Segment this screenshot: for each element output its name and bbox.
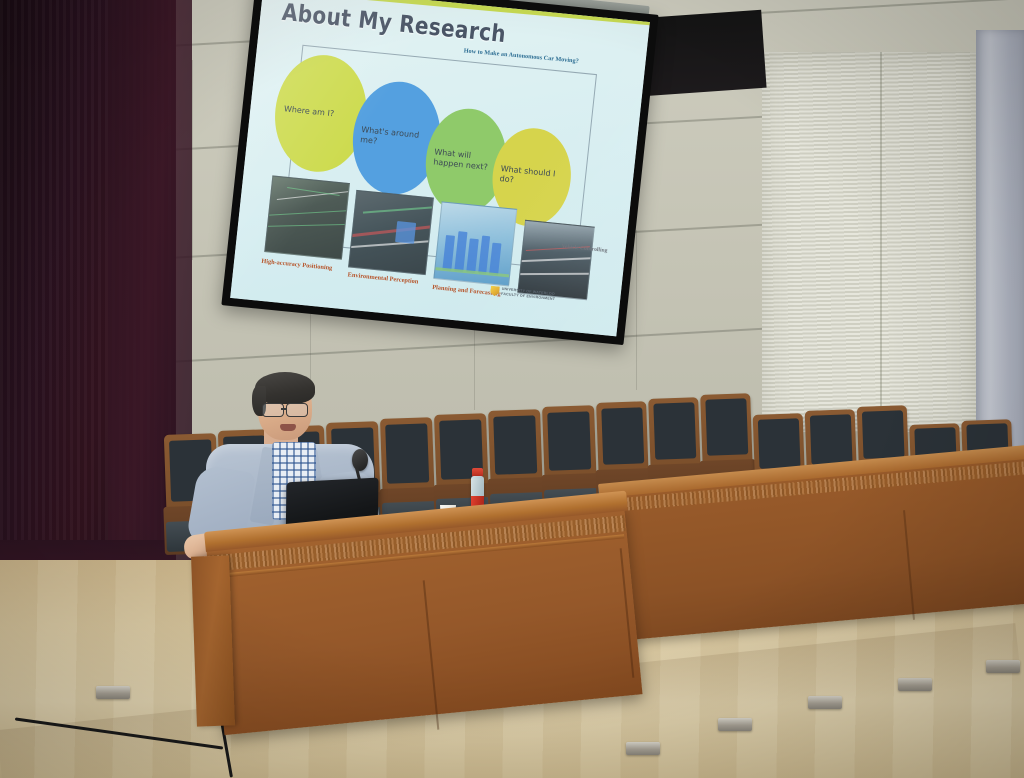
floor-outlet <box>626 742 660 755</box>
wall-seam <box>880 52 882 432</box>
slide-caption-1: High-accuracy Positioning <box>261 257 333 273</box>
slide-thumbnail-4 <box>517 219 594 300</box>
desk-end-panel-left <box>191 555 235 726</box>
sheer-curtain-right <box>976 30 1024 460</box>
glasses-bridge <box>281 408 287 410</box>
glasses-icon <box>262 403 284 417</box>
presentation-slide: About My Research How to Make an Autonom… <box>230 0 650 336</box>
corrugated-wall-panel <box>762 52 976 432</box>
slide-thumbnail-2 <box>349 190 435 275</box>
floor-outlet <box>718 718 752 731</box>
presenter-mouth <box>280 424 296 431</box>
wall-seam <box>636 230 637 390</box>
wall-seam <box>192 60 193 260</box>
floor-outlet <box>96 686 130 699</box>
shield-icon <box>490 286 500 297</box>
projection-screen-surface: About My Research How to Make an Autonom… <box>230 0 650 336</box>
projection-screen[interactable]: About My Research How to Make an Autonom… <box>221 0 658 345</box>
slide-thumbnail-1 <box>264 175 350 260</box>
slide-thumbnail-3 <box>433 201 517 286</box>
glasses-icon <box>286 403 308 417</box>
lecture-hall-scene: About My Research How to Make an Autonom… <box>0 0 1024 778</box>
slide-bubble-4-label: What should I do? <box>492 163 571 191</box>
slide-bubble-1-label: Where am I? <box>275 104 342 121</box>
